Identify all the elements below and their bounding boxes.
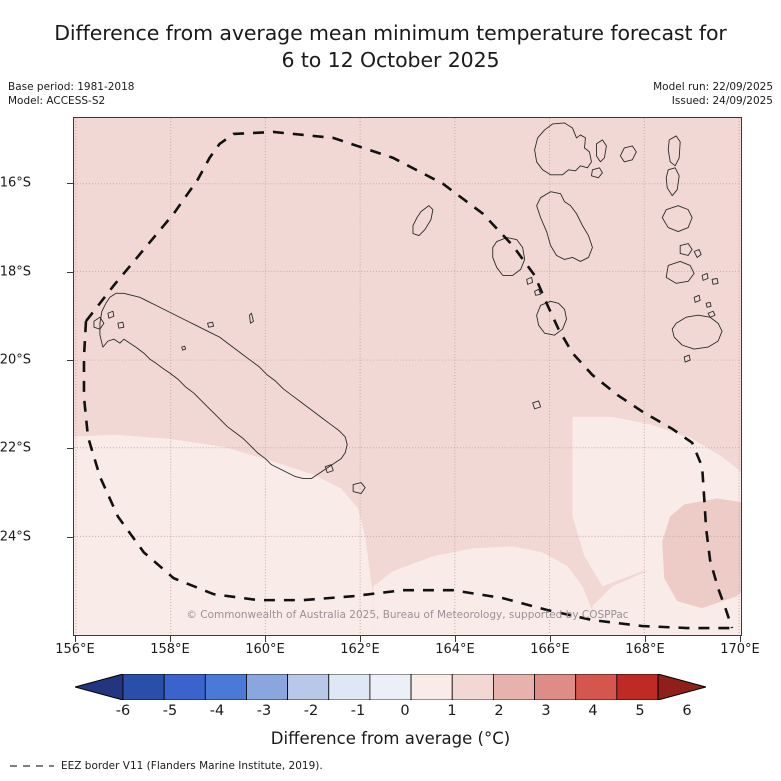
colorbar-swatch-7 bbox=[411, 674, 452, 700]
map-plot-area[interactable]: © Commonwealth of Australia 2025, Bureau… bbox=[73, 117, 742, 636]
colorbar-label: Difference from average (°C) bbox=[0, 729, 781, 748]
y-tick-label-3: 22°S bbox=[0, 441, 31, 456]
colorbar-swatch-1 bbox=[164, 674, 205, 700]
colorbar-swatch-8 bbox=[452, 674, 493, 700]
base-period-text: Base period: 1981-2018 bbox=[8, 80, 134, 94]
colorbar-swatches bbox=[75, 674, 706, 700]
footer-legend: EEZ border V11 (Flanders Marine Institut… bbox=[8, 760, 323, 772]
y-tick-mark-2 bbox=[67, 360, 73, 361]
x-tick-label-7: 170°E bbox=[680, 642, 781, 657]
metadata-left: Base period: 1981-2018 Model: ACCESS-S2 bbox=[8, 80, 134, 108]
colorbar-swatch-11 bbox=[576, 674, 617, 700]
colorbar-swatch-10 bbox=[535, 674, 576, 700]
colorbar-swatch-4 bbox=[288, 674, 329, 700]
colorbar-swatch-6 bbox=[370, 674, 411, 700]
colorbar-swatch-0 bbox=[123, 674, 164, 700]
y-tick-label-2: 20°S bbox=[0, 353, 31, 368]
page-title: Difference from average mean minimum tem… bbox=[0, 20, 781, 74]
y-tick-label-4: 24°S bbox=[0, 530, 31, 545]
x-tick-mark-0 bbox=[75, 636, 76, 642]
x-tick-mark-2 bbox=[265, 636, 266, 642]
y-tick-label-1: 18°S bbox=[0, 265, 31, 280]
colorbar-swatch-5 bbox=[329, 674, 370, 700]
colorbar-swatch-12 bbox=[617, 674, 658, 700]
footer-legend-text: EEZ border V11 (Flanders Marine Institut… bbox=[61, 760, 323, 772]
metadata-right: Model run: 22/09/2025 Issued: 24/09/2025 bbox=[653, 80, 773, 108]
x-tick-mark-5 bbox=[550, 636, 551, 642]
colorbar-swatch-9 bbox=[493, 674, 534, 700]
colorbar-svg bbox=[75, 674, 706, 700]
x-tick-mark-6 bbox=[645, 636, 646, 642]
model-run-text: Model run: 22/09/2025 bbox=[653, 80, 773, 94]
colorbar-swatch-2 bbox=[205, 674, 246, 700]
issued-text: Issued: 24/09/2025 bbox=[653, 94, 773, 108]
eez-dash-sample bbox=[8, 761, 56, 771]
y-tick-mark-1 bbox=[67, 272, 73, 273]
x-tick-mark-4 bbox=[455, 636, 456, 642]
title-line-2: 6 to 12 October 2025 bbox=[0, 47, 781, 74]
x-tick-mark-1 bbox=[170, 636, 171, 642]
y-tick-mark-3 bbox=[67, 448, 73, 449]
y-tick-label-0: 16°S bbox=[0, 176, 31, 191]
colorbar-arrow-left bbox=[75, 674, 123, 700]
title-line-1: Difference from average mean minimum tem… bbox=[0, 20, 781, 47]
colorbar[interactable] bbox=[75, 674, 706, 700]
y-tick-mark-0 bbox=[67, 183, 73, 184]
model-text: Model: ACCESS-S2 bbox=[8, 94, 134, 108]
colorbar-arrow-right bbox=[658, 674, 706, 700]
map-svg bbox=[74, 118, 741, 635]
anomaly-patch-southeast bbox=[662, 499, 741, 609]
colorbar-tick-label-12: 6 bbox=[647, 703, 727, 719]
colorbar-swatch-3 bbox=[246, 674, 287, 700]
x-tick-mark-7 bbox=[740, 636, 741, 642]
y-tick-mark-4 bbox=[67, 537, 73, 538]
map-canvas: © Commonwealth of Australia 2025, Bureau… bbox=[74, 118, 741, 635]
x-tick-mark-3 bbox=[360, 636, 361, 642]
